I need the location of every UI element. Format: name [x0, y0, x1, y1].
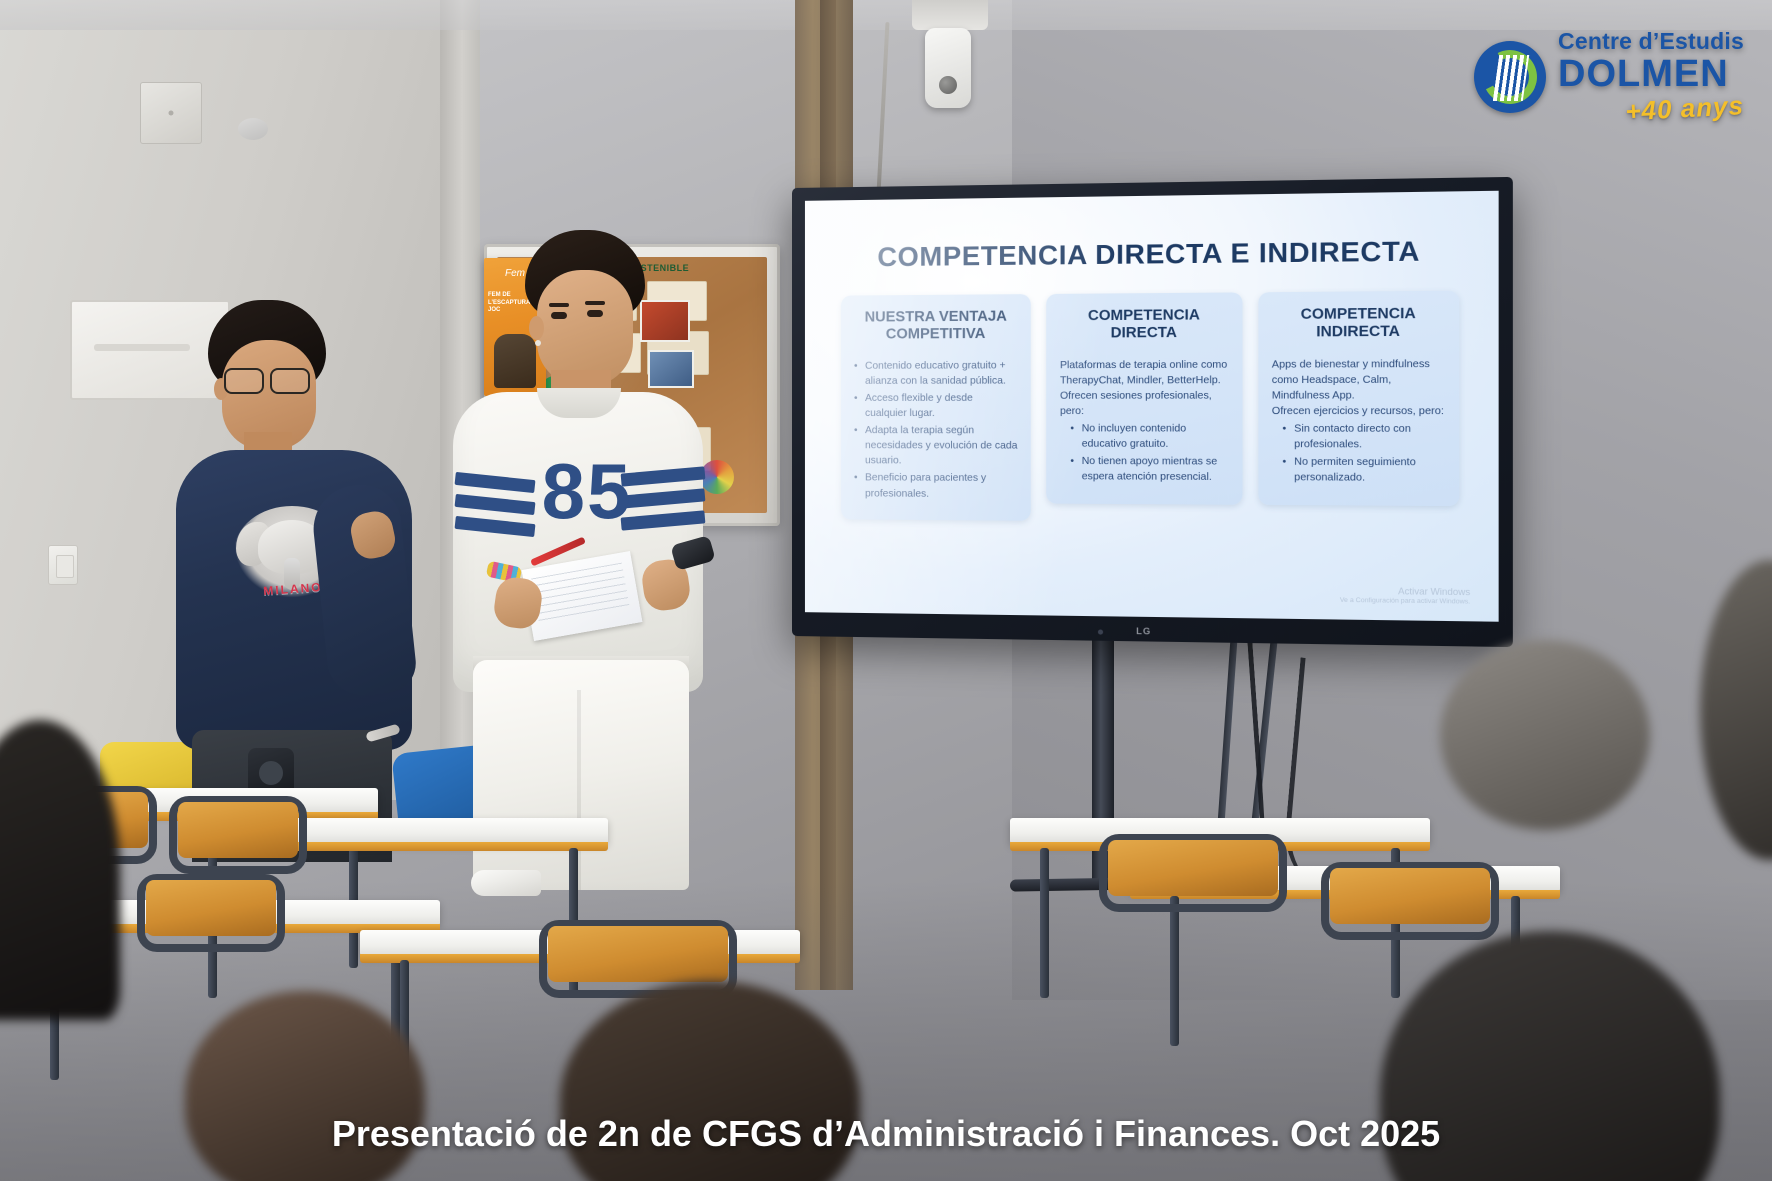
card-competencia-directa: COMPETENCIA DIRECTA Plataformas de terap… [1047, 292, 1243, 504]
eye [551, 312, 567, 319]
motion-sensor-icon [925, 28, 971, 108]
slide-title: COMPETENCIA DIRECTA E INDIRECTA [831, 235, 1470, 274]
student-presenter-left: MILANO [170, 300, 430, 860]
dolmen-logo: Centre d’Estudis DOLMEN +40 anys [1474, 30, 1744, 123]
card-body: Contenido educativo gratuito + alianza c… [854, 358, 1018, 502]
light-switch[interactable] [48, 545, 78, 585]
jersey-number: 85 [517, 452, 657, 530]
eyebrow [549, 303, 569, 307]
tv-ir-sensor [1098, 629, 1103, 634]
wall-access-panel [140, 82, 202, 144]
card-subbullet-list: Sin contacto directo con profesionales. … [1272, 421, 1445, 486]
sensor-mount [912, 0, 988, 30]
card-bullet: Adapta la terapia según necesidades y ev… [854, 423, 1018, 469]
chair-back [1108, 840, 1278, 896]
photo-caption: Presentació de 2n de CFGS d’Administraci… [0, 1113, 1772, 1155]
card-subbullet: No permiten seguimiento personalizado. [1282, 455, 1445, 487]
card-intro: Apps de bienestar y mindfulness como Hea… [1272, 356, 1445, 419]
logo-line-2: DOLMEN [1558, 55, 1744, 93]
desk-leg [1170, 896, 1179, 1046]
card-title: COMPETENCIA INDIRECTA [1272, 305, 1445, 342]
logo-bars [1493, 55, 1529, 101]
white-trousers [473, 660, 689, 890]
card-body: Apps de bienestar y mindfulness como Hea… [1272, 356, 1445, 486]
card-bullet-list: Contenido educativo gratuito + alianza c… [854, 358, 1018, 502]
logo-line-1: Centre d’Estudis [1558, 30, 1744, 53]
card-nuestra-ventaja: NUESTRA VENTAJA COMPETITIVA Contenido ed… [841, 294, 1031, 520]
card-bullet: Contenido educativo gratuito + alianza c… [854, 358, 1018, 389]
chair-back [178, 802, 298, 858]
card-subbullet: No tienen apoyo mientras se espera atenc… [1070, 454, 1228, 486]
slide-cards: NUESTRA VENTAJA COMPETITIVA Contenido ed… [831, 291, 1470, 524]
card-subbullet-list: No incluyen contenido educativo gratuito… [1060, 421, 1228, 485]
earring [535, 340, 541, 346]
wall-mark [238, 118, 268, 140]
desk-leg [1040, 848, 1049, 998]
card-bullet: Beneficio para pacientes y profesionales… [854, 471, 1018, 502]
chair-back [146, 880, 276, 936]
slide-content: COMPETENCIA DIRECTA E INDIRECTA NUESTRA … [805, 191, 1499, 622]
logo-anniversary: +40 anys [1557, 92, 1744, 128]
chair-back [1330, 868, 1490, 924]
tv-brand-label: LG [1136, 626, 1151, 636]
activate-windows-watermark: Activar Windows Ve a Configuración para … [1340, 585, 1470, 607]
classroom-photo: DOLMEN • SOSTENIBLE Fem FEM DE L’ESCAPTU… [0, 0, 1772, 1181]
card-bullet: Acceso flexible y desde cualquier lugar. [854, 391, 1018, 422]
card-subbullet: No incluyen contenido educativo gratuito… [1070, 421, 1228, 452]
audience-head-foreground [1440, 640, 1650, 830]
card-competencia-indirecta: COMPETENCIA INDIRECTA Apps de bienestar … [1258, 291, 1459, 506]
card-title: COMPETENCIA DIRECTA [1060, 307, 1228, 344]
card-body: Plataformas de terapia online como Thera… [1060, 357, 1228, 485]
watermark-subtitle: Ve a Configuración para activar Windows. [1340, 597, 1470, 607]
card-intro: Plataformas de terapia online como Thera… [1060, 357, 1228, 419]
card-subbullet: Sin contacto directo con profesionales. [1282, 421, 1445, 453]
ear [529, 316, 544, 340]
eyebrow [585, 301, 605, 305]
logo-text-block: Centre d’Estudis DOLMEN +40 anys [1558, 30, 1744, 123]
chair-back [548, 926, 728, 982]
glasses-icon [222, 368, 318, 390]
eye [587, 310, 603, 317]
dolmen-circle-logo-icon [1474, 41, 1546, 113]
face [537, 270, 633, 386]
presentation-display: COMPETENCIA DIRECTA E INDIRECTA NUESTRA … [792, 177, 1513, 647]
card-title: NUESTRA VENTAJA COMPETITIVA [854, 308, 1018, 344]
tv-screen: COMPETENCIA DIRECTA E INDIRECTA NUESTRA … [805, 191, 1499, 622]
student-presenter-right: 85 [425, 230, 725, 890]
